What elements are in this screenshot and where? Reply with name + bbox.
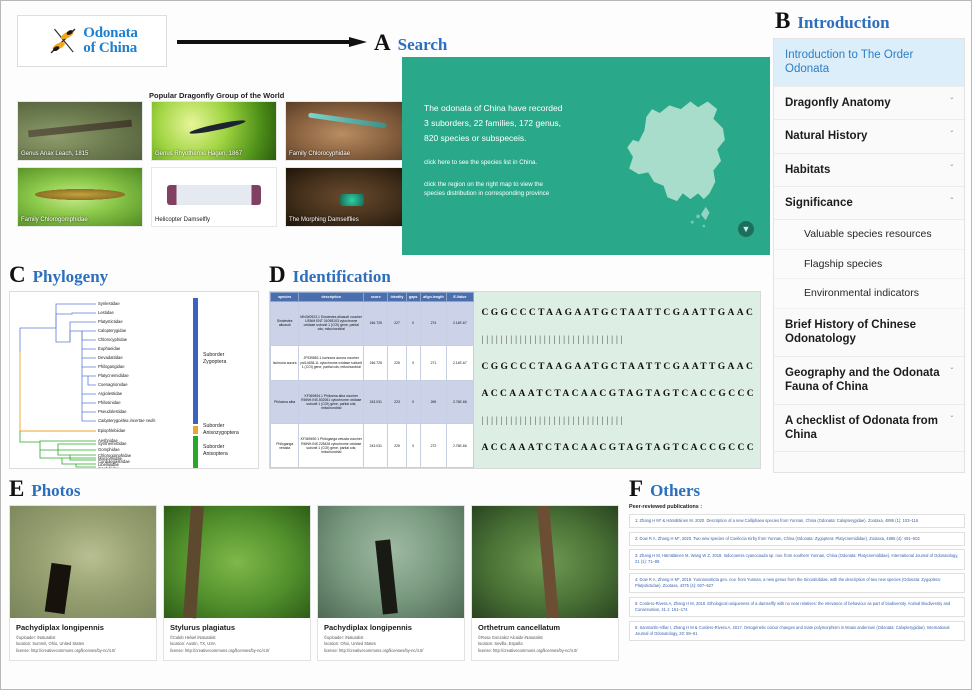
popular-group-gallery: Genus Anax Leach, 1815 Genus Rhyothemis … xyxy=(17,101,411,227)
cell-identity: 227 xyxy=(388,302,406,346)
gallery-thumb[interactable]: Family Chlorocyphidae xyxy=(285,101,411,161)
accordion-sub-valuable-species-resources[interactable]: Valuable species resources xyxy=(774,220,964,250)
identification-result: species description score identity gaps … xyxy=(269,291,761,469)
tree-leaf-label: Synlestidae xyxy=(98,301,120,306)
accordion-sub-environmental-indicators[interactable]: Environmental indicators xyxy=(774,279,964,309)
tree-leaf-label: Euphaeidae xyxy=(98,346,120,351)
map-hint-species-list[interactable]: click here to see the species list in Ch… xyxy=(424,158,604,168)
clade-label-zygoptera: Suborder Zygoptera xyxy=(203,352,251,366)
map-headline-3: 820 species or subspeceis. xyxy=(424,131,604,146)
table-row[interactable]: Sinolestes alluaudi MN340923.1 Sinoleste… xyxy=(271,302,474,346)
cell-gaps: 0 xyxy=(406,380,420,424)
photo-card[interactable]: Stylurus plagiatus ©Caleb Helsel iNatura… xyxy=(163,505,311,661)
accordion-item-geography-fauna[interactable]: Geography and the Odonata Fauna of China… xyxy=(774,357,964,405)
panel-letter-f: F xyxy=(629,477,643,500)
species-photo xyxy=(472,506,618,618)
thumb-caption: Genus Anax Leach, 1815 xyxy=(21,151,139,158)
table-header-row: species description score identity gaps … xyxy=(271,293,474,302)
accordion-label: Brief History of Chinese Odonatology xyxy=(785,318,953,347)
photo-license[interactable]: license: http://creativecommons.org/lice… xyxy=(16,648,150,654)
logo-line-2: of China xyxy=(83,41,137,56)
clade-label-anisozygoptera: Suborder Anisozygoptera xyxy=(203,423,251,437)
tree-leaf-label: Gomphidae xyxy=(98,447,120,452)
section-photos: E Photos Pachydiplax longipennis ©upload… xyxy=(9,477,621,685)
dragonfly-logo-icon xyxy=(46,24,80,58)
tree-leaf-label: Macromiidae xyxy=(98,456,122,461)
cell-description: JF939852.1 Ischnura aurora voucher psi14… xyxy=(299,345,364,380)
alignment-sequence: ACCAAATCTACAACGTAGTAGTCACCGCCC xyxy=(482,389,757,399)
alignment-sequence: ACCAAATCTACAACGTAGTAGTCACCGCCC xyxy=(482,443,757,453)
photo-license[interactable]: license: http://creativecommons.org/lice… xyxy=(324,648,458,654)
chevron-down-icon: ˇ xyxy=(950,96,953,109)
map-hint-region-1: click the region on the right map to vie… xyxy=(424,180,604,190)
species-photo xyxy=(10,506,156,618)
cell-gaps: 0 xyxy=(406,345,420,380)
publication-item[interactable]: 1: Zhang H M* & Hämäläinen M. 2020. Desc… xyxy=(629,514,965,528)
cell-align-length: 269 xyxy=(420,380,446,424)
cell-identity: 225 xyxy=(388,345,406,380)
china-map-card[interactable]: The odonata of China have recorded 3 sub… xyxy=(402,57,770,255)
publication-item[interactable]: 5: Cordero-Rivera A, Zhang H M, 2018. Et… xyxy=(629,597,965,617)
cell-identity: 223 xyxy=(388,380,406,424)
accordion-label: Introduction to The Order Odonata xyxy=(785,48,953,77)
accordion-item-brief-history[interactable]: Brief History of Chinese Odonatology xyxy=(774,309,964,357)
gallery-thumb[interactable]: Family Chlorogomphidae xyxy=(17,167,143,227)
tree-leaf-label: Platystictidae xyxy=(98,319,123,324)
photo-card[interactable]: Orthetrum cancellatum ©Rosa Gonzalez Alc… xyxy=(471,505,619,661)
section-identification: D Identification species description sco… xyxy=(269,263,763,469)
panel-letter-d: D xyxy=(269,263,286,286)
tree-leaf-label: Lestidae xyxy=(98,310,114,315)
panel-head-others: F Others xyxy=(629,477,965,500)
chevron-up-icon: ˆ xyxy=(950,196,953,209)
gallery-thumb[interactable]: Helicopter Damselfly xyxy=(151,167,277,227)
clade-bar-zygoptera xyxy=(193,298,198,424)
col-header-identity: identity xyxy=(388,293,406,302)
photo-card[interactable]: Pachydiplax longipennis ©uploader: iNatu… xyxy=(317,505,465,661)
col-header-description: description xyxy=(299,293,364,302)
tree-leaf-label: Argiolestidae xyxy=(98,391,122,396)
tree-leaf-label: Philosinidae xyxy=(98,400,121,405)
cell-align-length: 271 xyxy=(420,345,446,380)
accordion-label: Dragonfly Anatomy xyxy=(785,96,891,110)
chevron-down-icon: ˇ xyxy=(950,163,953,176)
col-header-gaps: gaps xyxy=(406,293,420,302)
tree-leaf-label: Calopterygidae xyxy=(98,328,126,333)
introduction-accordion: Introduction to The Order Odonata Dragon… xyxy=(773,38,965,473)
map-hint-region-2: species distribution in corresponding pr… xyxy=(424,189,604,199)
section-phylogeny: C Phylogeny xyxy=(9,263,261,469)
clade-rank: Suborder xyxy=(203,423,251,430)
accordion-item-significance[interactable]: Significance ˆ xyxy=(774,187,964,220)
tree-leaf-label: Synthemistidae xyxy=(98,441,127,446)
accordion-item-natural-history[interactable]: Natural History ˇ xyxy=(774,120,964,153)
sequence-alignment-view: CGGCCCTAAGAATGCTAATTCGAATTGAAC |||||||||… xyxy=(474,292,761,468)
table-row[interactable]: Ischnura aurora JF939852.1 Ischnura auro… xyxy=(271,345,474,380)
tree-leaf-label: Platycnemididae xyxy=(98,373,129,378)
phylogenetic-tree: Synlestidae Lestidae Platystictidae Calo… xyxy=(9,291,259,469)
photo-species-name: Orthetrum cancellatum xyxy=(478,623,612,632)
table-row[interactable]: Philoganga vetusta KF369490.1 Philoganga… xyxy=(271,424,474,468)
publication-item[interactable]: 2: Dow R A, Zhang H M*, 2020. Two new sp… xyxy=(629,532,965,546)
panel-letter-e: E xyxy=(9,477,24,500)
publications-list: 1: Zhang H M* & Hämäläinen M. 2020. Desc… xyxy=(629,514,965,641)
panel-title-others: Others xyxy=(650,482,700,499)
cell-species: Philosina alba xyxy=(271,380,299,424)
panel-head-introduction: B Introduction xyxy=(775,9,965,32)
panel-title-search: Search xyxy=(398,36,448,53)
chevron-down-icon: ˇ xyxy=(950,129,953,142)
tree-leaf-label: Devadattidae xyxy=(98,355,123,360)
panel-head-phylogeny: C Phylogeny xyxy=(9,263,261,286)
clade-taxon: Anisoptera xyxy=(203,451,251,458)
col-header-score: score xyxy=(364,293,388,302)
accordion-label: Significance xyxy=(785,196,853,210)
tree-branches-icon xyxy=(10,292,259,469)
cell-score: 246.725 xyxy=(364,345,388,380)
tree-leaf-label: Philogangidae xyxy=(98,364,125,369)
table-row[interactable]: Philosina alba KF369494.1 Philosina alba… xyxy=(271,380,474,424)
funnel-icon[interactable]: ▼ xyxy=(738,221,754,237)
publication-item[interactable]: 4: Dow R A, Zhang H M*, 2018. Yunnanosti… xyxy=(629,573,965,593)
panel-head-identification: D Identification xyxy=(269,263,763,286)
map-headline-2: 3 suborders, 22 families, 172 genus, xyxy=(424,116,604,131)
site-logo[interactable]: Odonata of China xyxy=(17,15,167,67)
publication-item[interactable]: 6: Sanmartín-Villar I, Zhang H M & Corde… xyxy=(629,621,965,641)
photo-license[interactable]: license: http://creativecommons.org/lice… xyxy=(478,648,612,654)
flow-arrow-icon xyxy=(177,37,367,46)
clade-rank: Suborder xyxy=(203,444,251,451)
photo-license[interactable]: license: http://creativecommons.org/lice… xyxy=(170,648,304,654)
species-photo xyxy=(318,506,464,618)
thumb-caption: The Morphing Damselflies xyxy=(289,217,407,224)
chevron-down-icon: ˇ xyxy=(950,366,953,379)
clade-bar-anisozygoptera xyxy=(193,426,198,434)
panel-head-photos: E Photos xyxy=(9,477,621,500)
section-search: Odonata of China A Search Popular Dragon… xyxy=(9,9,769,257)
cell-score: 243.031 xyxy=(364,380,388,424)
species-photo xyxy=(164,506,310,618)
photo-species-name: Stylurus plagiatus xyxy=(170,623,304,632)
tree-leaf-label: Epiophlebiidae xyxy=(98,428,125,433)
gallery-thumb[interactable]: Genus Rhyothemis Hagen, 1867 xyxy=(151,101,277,161)
cell-evalue: 2.76E-66 xyxy=(447,380,473,424)
cell-gaps: 0 xyxy=(406,424,420,468)
thumb-caption: Family Chlorogomphidae xyxy=(21,217,139,224)
cell-evalue: 2.76E-66 xyxy=(447,424,473,468)
blast-results-table: species description score identity gaps … xyxy=(270,292,474,468)
tree-leaf-label: Pseudolestidae xyxy=(98,409,127,414)
accordion-sub-flagship-species[interactable]: Flagship species xyxy=(774,250,964,280)
gallery-thumb[interactable]: The Morphing Damselflies xyxy=(285,167,411,227)
panel-title-phylogeny: Phylogeny xyxy=(33,268,109,285)
accordion-item-intro-order-odonata[interactable]: Introduction to The Order Odonata xyxy=(774,39,964,87)
thumb-caption: Family Chlorocyphidae xyxy=(289,151,407,158)
clade-taxon: Anisozygoptera xyxy=(203,430,251,437)
accordion-item-habitats[interactable]: Habitats ˇ xyxy=(774,154,964,187)
panel-title-identification: Identification xyxy=(293,268,391,285)
alignment-sequence: CGGCCCTAAGAATGCTAATTCGAATTGAAC xyxy=(482,308,757,318)
cell-gaps: 0 xyxy=(406,302,420,346)
panel-letter-c: C xyxy=(9,263,26,286)
alignment-match-bars: |||||||||||||||||||||||||||||| xyxy=(482,335,757,345)
map-card-text: The odonata of China have recorded 3 sub… xyxy=(424,101,604,199)
page-root: Odonata of China A Search Popular Dragon… xyxy=(0,0,972,690)
col-header-evalue: E-Value xyxy=(447,293,473,302)
publication-item[interactable]: 3: Zhang H M, Hämäläinen M, Wang W Z, 20… xyxy=(629,549,965,569)
tree-leaf-label: Coenagrionidae xyxy=(98,382,128,387)
photo-species-name: Pachydiplax longipennis xyxy=(324,623,458,632)
clade-taxon: Zygoptera xyxy=(203,359,251,366)
cell-score: 246.725 xyxy=(364,302,388,346)
china-map-icon[interactable] xyxy=(610,83,744,233)
map-headline-1: The odonata of China have recorded xyxy=(424,101,604,116)
cell-species: Sinolestes alluaudi xyxy=(271,302,299,346)
alignment-match-bars: |||||||||||||||||||||||||||||| xyxy=(482,416,757,426)
photo-grid: Pachydiplax longipennis ©uploader: iNatu… xyxy=(9,505,621,661)
cell-description: MN340923.1 Sinolestes alluaudi voucher U… xyxy=(299,302,364,346)
panel-letter-b: B xyxy=(775,9,790,32)
cell-species: Ischnura aurora xyxy=(271,345,299,380)
accordion-label: Natural History xyxy=(785,129,867,143)
col-header-species: species xyxy=(271,293,299,302)
photo-species-name: Pachydiplax longipennis xyxy=(16,623,150,632)
cell-description: KF369490.1 Philoganga vetusta voucher RM… xyxy=(299,424,364,468)
cell-description: KF369494.1 Philosina alba voucher RMNH.I… xyxy=(299,380,364,424)
panel-head-search: A Search xyxy=(374,31,447,54)
publications-label: Peer-reviewed publications : xyxy=(629,504,965,510)
cell-score: 243.031 xyxy=(364,424,388,468)
col-header-align-length: align-length xyxy=(420,293,446,302)
tree-leaf-label: Calopterygoidea incertae sedis xyxy=(98,418,156,423)
accordion-label: Habitats xyxy=(785,163,830,177)
cell-align-length: 272 xyxy=(420,424,446,468)
cell-species: Philoganga vetusta xyxy=(271,424,299,468)
section-introduction: B Introduction Introduction to The Order… xyxy=(773,9,965,471)
tree-leaf-label: Corduliidae xyxy=(98,466,119,469)
gallery-caption: Popular Dragonfly Group of the World xyxy=(149,91,284,100)
cell-identity: 225 xyxy=(388,424,406,468)
accordion-label: A checklist of Odonata from China xyxy=(785,414,944,443)
gallery-thumb[interactable]: Genus Anax Leach, 1815 xyxy=(17,101,143,161)
panel-title-introduction: Introduction xyxy=(797,14,889,31)
thumb-caption: Helicopter Damselfly xyxy=(155,217,273,224)
photo-card[interactable]: Pachydiplax longipennis ©uploader: iNatu… xyxy=(9,505,157,661)
cell-align-length: 274 xyxy=(420,302,446,346)
section-others: F Others Peer-reviewed publications : 1:… xyxy=(629,477,965,685)
panel-letter-a: A xyxy=(374,31,391,54)
accordion-label: Geography and the Odonata Fauna of China xyxy=(785,366,944,395)
accordion-item-checklist[interactable]: A checklist of Odonata from China ˇ xyxy=(774,405,964,453)
alignment-sequence: CGGCCCTAAGAATGCTAATTCGAATTGAAC xyxy=(482,362,757,372)
cell-evalue: 2.14E-67 xyxy=(447,345,473,380)
accordion-item-dragonfly-anatomy[interactable]: Dragonfly Anatomy ˇ xyxy=(774,87,964,120)
tree-leaf-label: Chlorocyphidae xyxy=(98,337,127,342)
chevron-down-icon: ˇ xyxy=(950,414,953,427)
cell-evalue: 2.14E-67 xyxy=(447,302,473,346)
panel-title-photos: Photos xyxy=(31,482,80,499)
logo-line-1: Odonata xyxy=(83,26,137,41)
clade-label-anisoptera: Suborder Anisoptera xyxy=(203,444,251,458)
clade-rank: Suborder xyxy=(203,352,251,359)
thumb-caption: Genus Rhyothemis Hagen, 1867 xyxy=(155,151,273,158)
clade-bar-anisoptera xyxy=(193,436,198,469)
